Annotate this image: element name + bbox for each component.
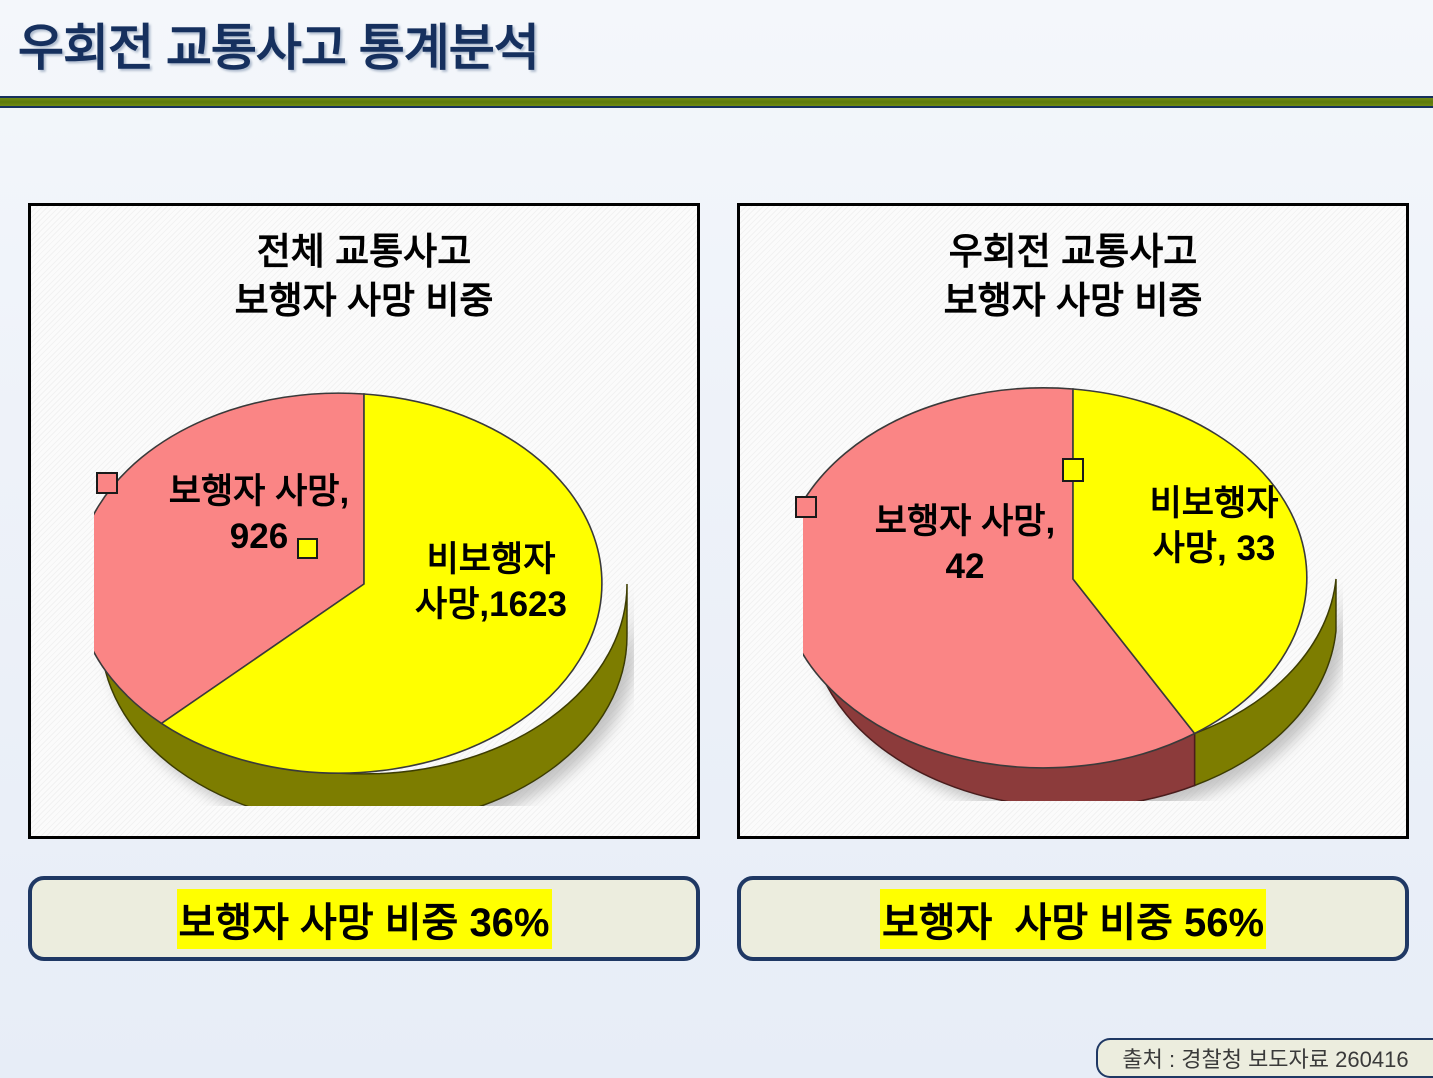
pie-chart-right-svg bbox=[803, 381, 1343, 801]
callout-box-left: 보행자 사망 비중 36% bbox=[28, 876, 700, 961]
source-text: 출처 : 경찰청 보도자료 260416 bbox=[1122, 1042, 1408, 1074]
divider-green-bar bbox=[0, 98, 1433, 106]
pink-legend-square-right bbox=[795, 496, 817, 518]
pie-chart-right bbox=[803, 381, 1343, 801]
divider-line-bottom bbox=[0, 106, 1433, 108]
pink-legend-square-left bbox=[96, 472, 118, 494]
pie-right-label-pedestrian: 보행자 사망, 42 bbox=[840, 500, 1090, 590]
pie-left-label-pedestrian: 보행자 사망, 926 bbox=[124, 470, 394, 560]
pie-left-label-non-pedestrian: 비보행자 사망,1623 bbox=[366, 538, 616, 628]
callout-text-left: 보행자 사망 비중 36% bbox=[177, 889, 552, 949]
pie-right-label-non-pedestrian: 비보행자 사망, 33 bbox=[1114, 482, 1314, 572]
chart-title-left: 전체 교통사고 보행자 사망 비중 bbox=[31, 228, 697, 326]
yellow-legend-square-left bbox=[297, 538, 318, 559]
page-title: 우회전 교통사고 통계분석 bbox=[18, 8, 539, 80]
chart-title-right: 우회전 교통사고 보행자 사망 비중 bbox=[740, 228, 1406, 326]
callout-box-right: 보행자 사망 비중 56% bbox=[737, 876, 1409, 961]
title-divider-rule bbox=[0, 96, 1433, 108]
callout-text-right: 보행자 사망 비중 56% bbox=[880, 889, 1266, 949]
source-box: 출처 : 경찰청 보도자료 260416 bbox=[1096, 1038, 1433, 1078]
yellow-legend-square-right bbox=[1062, 458, 1084, 482]
